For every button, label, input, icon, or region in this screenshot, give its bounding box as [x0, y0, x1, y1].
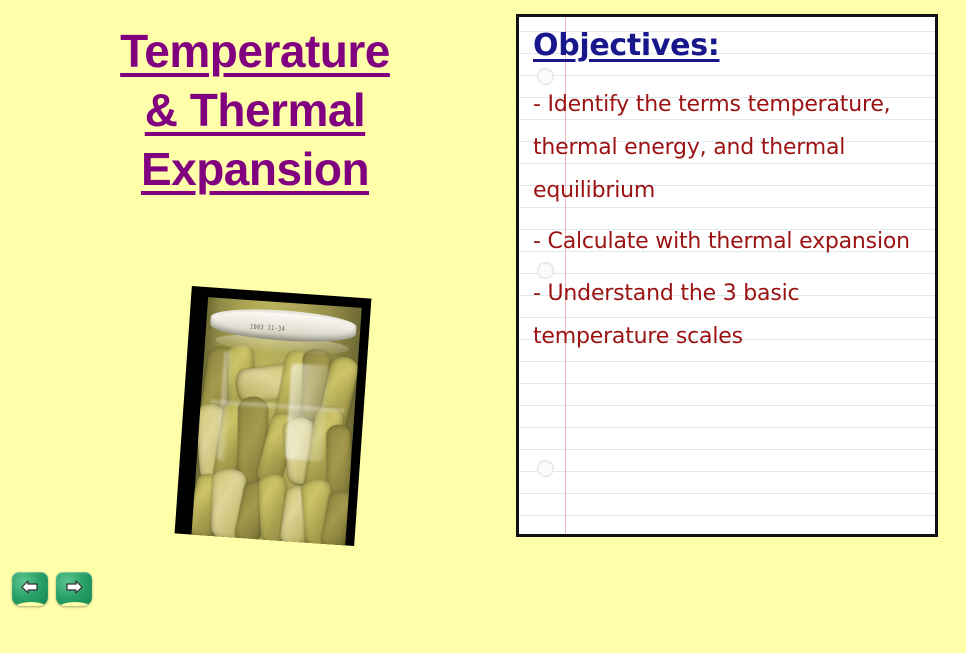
- pickle-jar-image-body: 1003 11-34: [192, 297, 362, 545]
- objectives-heading: Objectives:: [533, 27, 917, 65]
- pickle-jar-photo: 1003 11-34: [175, 286, 372, 546]
- objective-item: - Identify the terms temperature, therma…: [533, 83, 917, 213]
- arrow-right-icon: [56, 572, 92, 602]
- objective-item: - Calculate with thermal expansion: [533, 220, 917, 263]
- glass-highlight-right: [285, 363, 330, 461]
- title-line-3-text: Expansion: [141, 143, 369, 195]
- page-title: Temperature & Thermal Expansion: [30, 22, 480, 199]
- title-line-1: Temperature: [30, 22, 480, 81]
- objectives-panel: Objectives: - Identify the terms tempera…: [516, 14, 938, 537]
- previous-slide-button[interactable]: [12, 572, 48, 606]
- presentation-slide: Temperature & Thermal Expansion: [0, 0, 966, 653]
- pickles-group: [192, 341, 359, 545]
- title-line-1-text: Temperature: [120, 25, 390, 77]
- objectives-content: Objectives: - Identify the terms tempera…: [519, 17, 935, 534]
- objective-item: - Understand the 3 basic temperature sca…: [533, 272, 917, 359]
- title-line-3: Expansion: [30, 140, 480, 199]
- next-slide-button[interactable]: [56, 572, 92, 606]
- jar-lid-date-code: 1003 11-34: [250, 323, 286, 333]
- arrow-left-icon: [12, 572, 48, 602]
- slide-navigation: [12, 572, 92, 606]
- title-line-2-text: & Thermal: [145, 84, 365, 136]
- title-line-2: & Thermal: [30, 81, 480, 140]
